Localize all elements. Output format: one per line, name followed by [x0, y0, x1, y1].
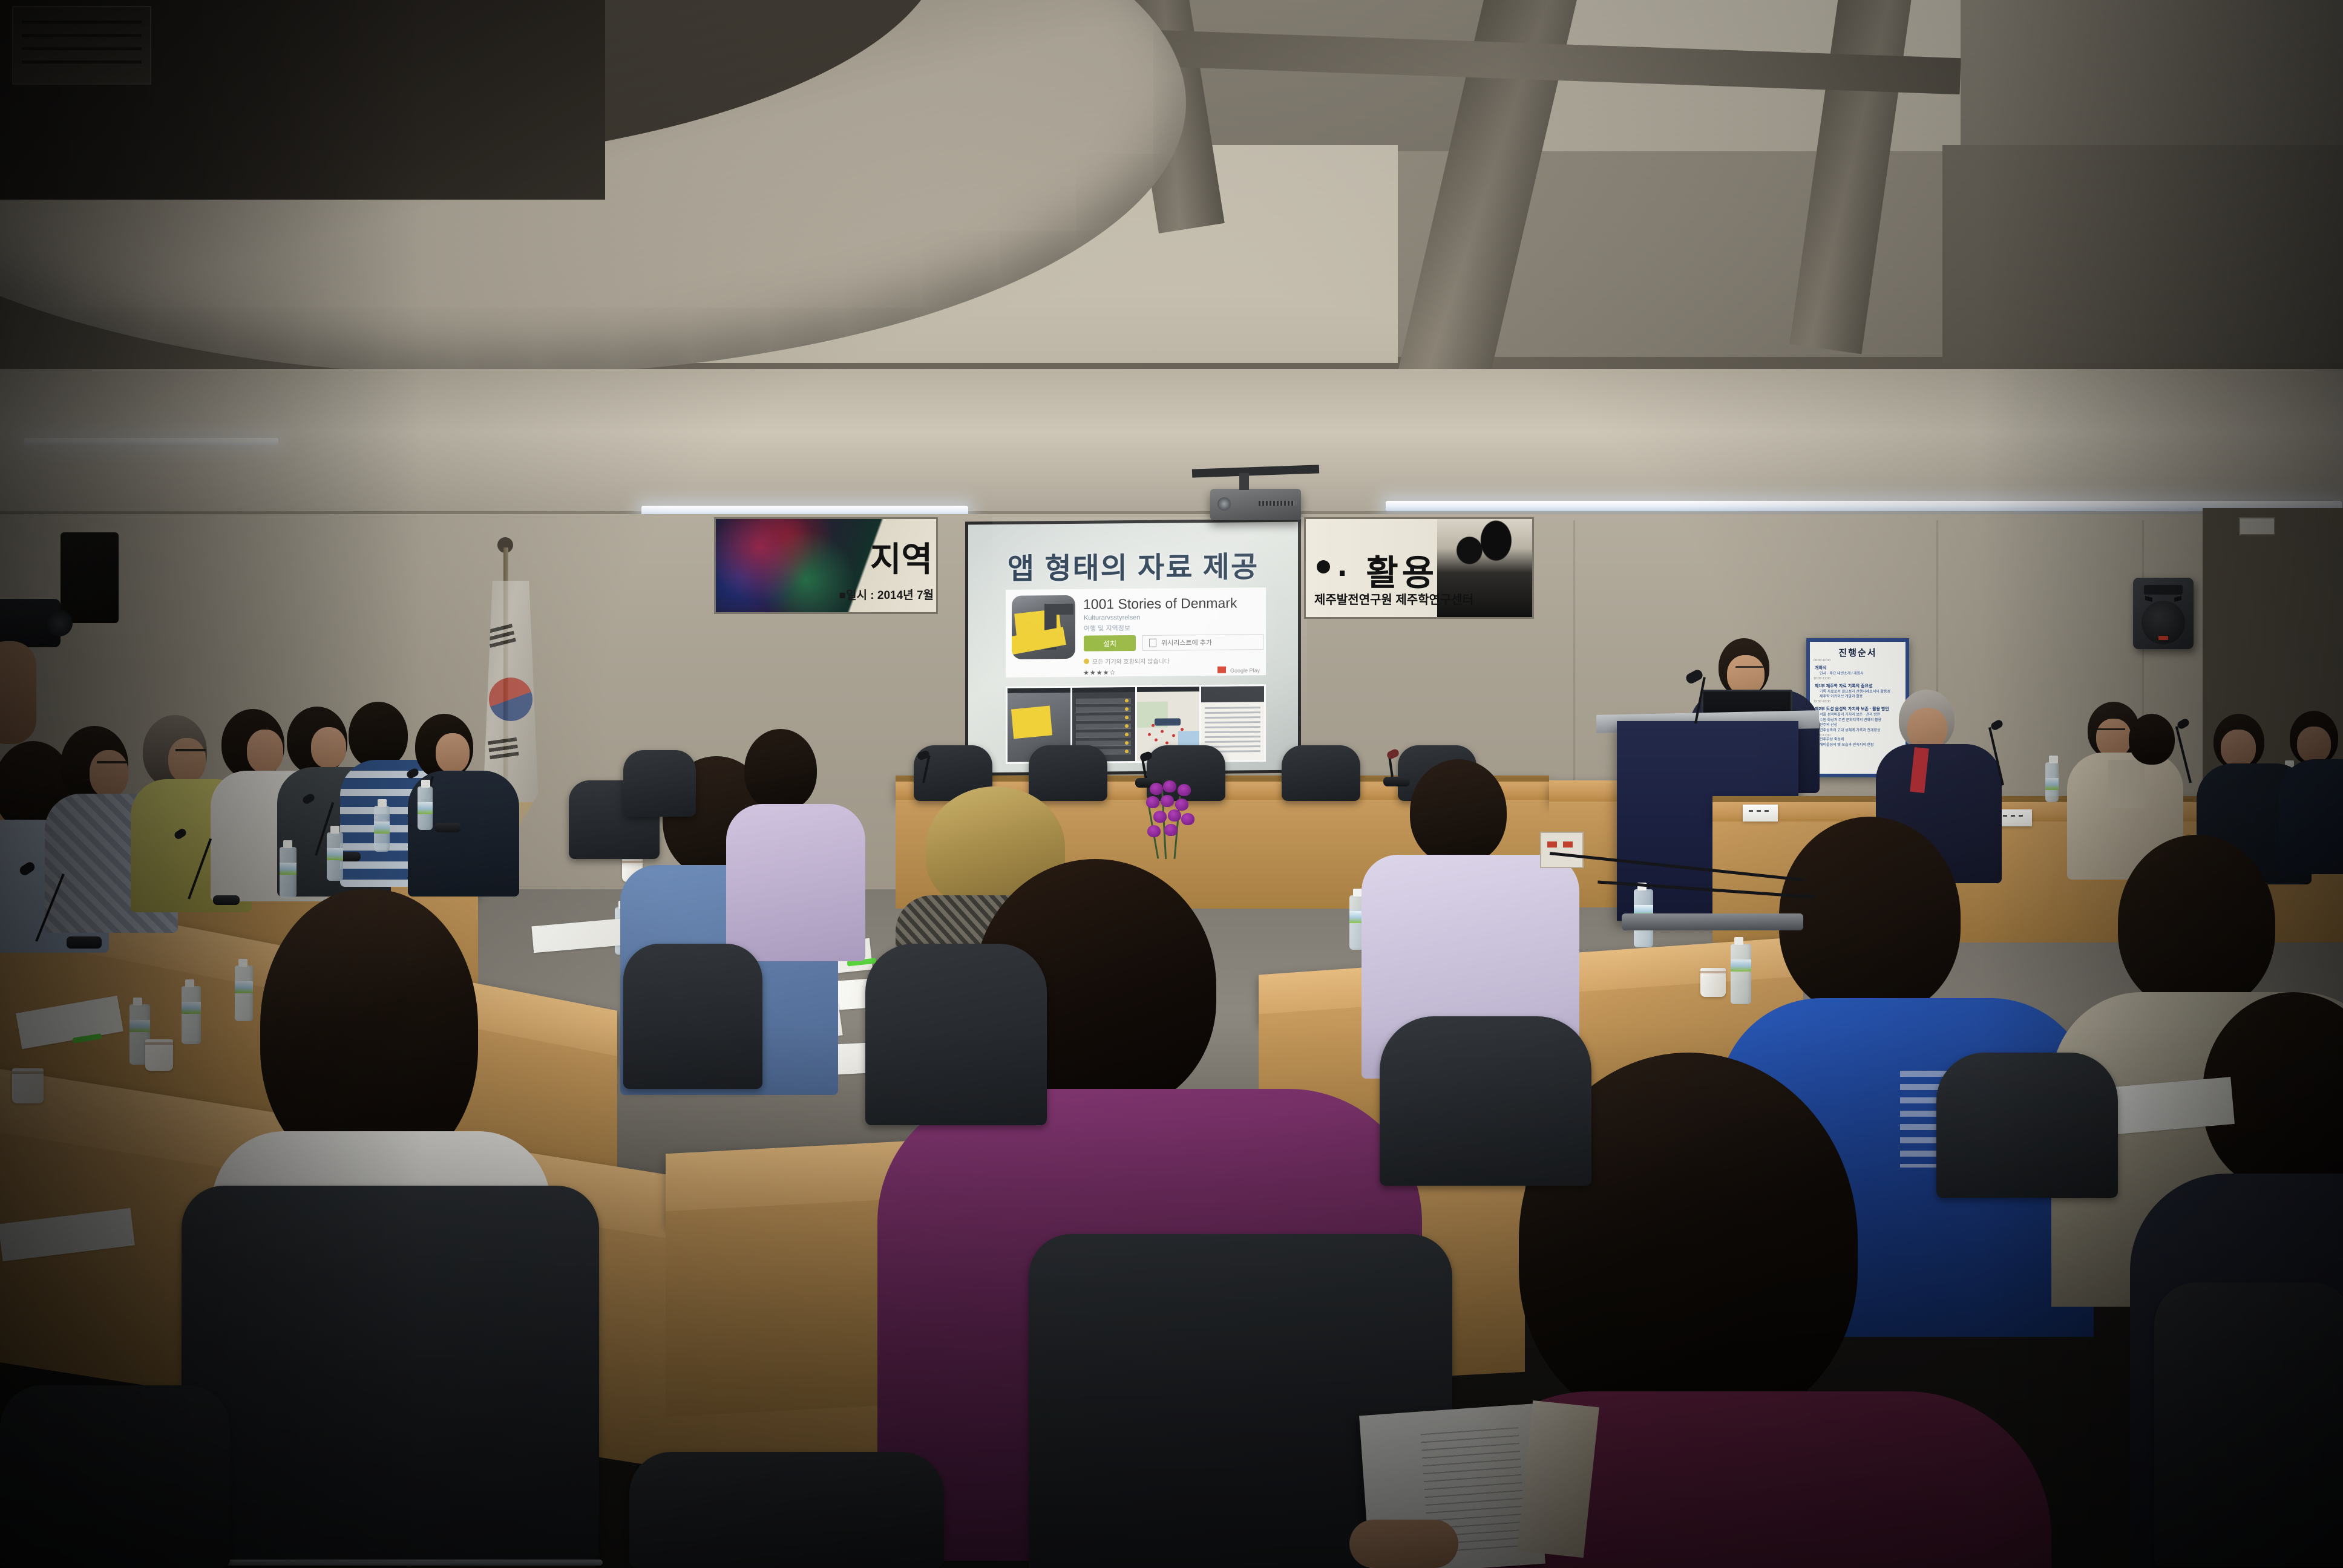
name-card: [1997, 809, 2032, 826]
dark-hair: [1779, 817, 1961, 1016]
glasses-icon: [97, 761, 128, 768]
chair[interactable]: [1936, 1053, 2118, 1198]
chair[interactable]: [1380, 1016, 1591, 1186]
app-category: 여행 및 지역정보: [1084, 623, 1130, 633]
orchid-arrangement: [1126, 780, 1216, 859]
wishlist-label: 위시리스트에 추가: [1161, 638, 1212, 648]
panelist-face: [2297, 727, 2331, 763]
hand: [1349, 1520, 1458, 1568]
face: [311, 727, 346, 768]
glasses-icon: [175, 749, 206, 756]
chair[interactable]: [1282, 745, 1360, 801]
water-bottle[interactable]: [235, 965, 253, 1021]
hair: [744, 729, 817, 811]
projection-screen: 앱 형태의 자료 제공 1001 Stories of Denmark Kult…: [965, 519, 1301, 776]
lanyard: [2108, 760, 2145, 808]
microphone-base: [67, 936, 102, 949]
rating-stars: ★★★★☆: [1083, 668, 1116, 676]
panelist-top: [2279, 759, 2343, 874]
camera-lens-icon: [46, 610, 73, 636]
taeguk-symbol-icon: [489, 678, 532, 721]
chair[interactable]: [1029, 745, 1107, 801]
program-section: 제1부 제주학 자료 기록의 중요성: [1815, 683, 1906, 689]
ceiling-panel: [1942, 145, 2343, 363]
chair[interactable]: [623, 750, 696, 817]
program-sign-title: 진행순서: [1810, 646, 1906, 659]
store-note: Google Play: [1217, 666, 1260, 674]
face: [90, 750, 128, 797]
app-name: 1001 Stories of Denmark: [1083, 595, 1237, 612]
arm: [0, 641, 36, 744]
compat-note: 모든 기기와 호환되지 않습니다: [1084, 656, 1170, 665]
hvac-vent-icon: [12, 6, 151, 85]
play-store-card: 1001 Stories of Denmark Kulturarvsstyrel…: [1006, 587, 1266, 678]
lavender-shirt: [726, 804, 865, 961]
glasses-icon: [2097, 728, 2125, 734]
app-developer: Kulturarvsstyrelsen: [1084, 614, 1141, 622]
face: [168, 738, 206, 783]
water-bottle[interactable]: [418, 786, 433, 830]
banner-right: · 활용 제주발전연구원 제주학연구센터: [1304, 517, 1534, 619]
program-section: 제2부 도성 읍성의 가치와 보존 · 활용 방안: [1815, 706, 1906, 712]
microphone-base: [1383, 777, 1410, 786]
water-bottle[interactable]: [1731, 944, 1751, 1004]
banner-right-organizer: 제주발전연구원 제주학연구센터: [1314, 590, 1473, 607]
install-button[interactable]: 설치: [1084, 635, 1136, 652]
microphone-base: [213, 895, 240, 905]
chair[interactable]: [182, 1186, 599, 1561]
chair[interactable]: [865, 944, 1047, 1125]
paper-cup[interactable]: [145, 1039, 173, 1071]
store-badge-icon: [1217, 667, 1226, 673]
banner-right-headline: · 활용: [1337, 544, 1438, 595]
panelist-face: [2221, 730, 2256, 767]
chair[interactable]: [629, 1452, 944, 1568]
water-bottle[interactable]: [182, 986, 201, 1044]
banner-left-detail: ■일시 : 2014년 7월: [839, 586, 934, 603]
banner-left: 지역 ■일시 : 2014년 7월: [714, 517, 938, 614]
water-bottle[interactable]: [374, 806, 390, 852]
dark-hair: [2118, 835, 2275, 1010]
speaker-left: [61, 532, 119, 623]
exit-sign: [2239, 517, 2275, 535]
microphone-base: [434, 823, 461, 832]
fluorescent-light: [1386, 501, 2342, 511]
water-bottle[interactable]: [327, 832, 343, 881]
wishlist-icon: [1149, 639, 1156, 647]
glasses-icon: [1735, 666, 1763, 672]
jbl-logo-icon: [2158, 636, 2168, 640]
conference-room-photograph: 앱 형태의 자료 제공 1001 Stories of Denmark Kult…: [0, 0, 2343, 1568]
ceiling-projector: [1210, 489, 1301, 520]
chair[interactable]: [0, 1385, 230, 1568]
banner-left-headline: 지역: [870, 532, 932, 581]
warning-icon: [1084, 659, 1089, 664]
jbl-speaker-right: [2133, 578, 2194, 649]
face: [436, 733, 470, 773]
slide-title: 앱 형태의 자료 제공: [968, 543, 1298, 588]
chair[interactable]: [2154, 1282, 2343, 1567]
chair[interactable]: [623, 944, 762, 1089]
wishlist-button[interactable]: 위시리스트에 추가: [1142, 634, 1263, 651]
cable-cover: [1622, 913, 1803, 930]
app-icon: [1012, 595, 1075, 659]
projector-lens-icon: [1217, 497, 1231, 511]
hair: [349, 702, 408, 768]
water-bottle[interactable]: [2045, 762, 2059, 802]
water-bottle[interactable]: [280, 847, 297, 898]
fluorescent-light: [24, 438, 278, 445]
paper-cup[interactable]: [1700, 968, 1726, 997]
panelist-hair: [2129, 714, 2175, 765]
program-section: 개회식: [1815, 665, 1906, 671]
name-card: [1743, 805, 1778, 822]
power-outlet[interactable]: [1540, 832, 1584, 868]
panelist-face: [2096, 719, 2131, 757]
hair: [1410, 759, 1507, 865]
face: [247, 730, 283, 773]
paper-cup[interactable]: [12, 1068, 44, 1103]
